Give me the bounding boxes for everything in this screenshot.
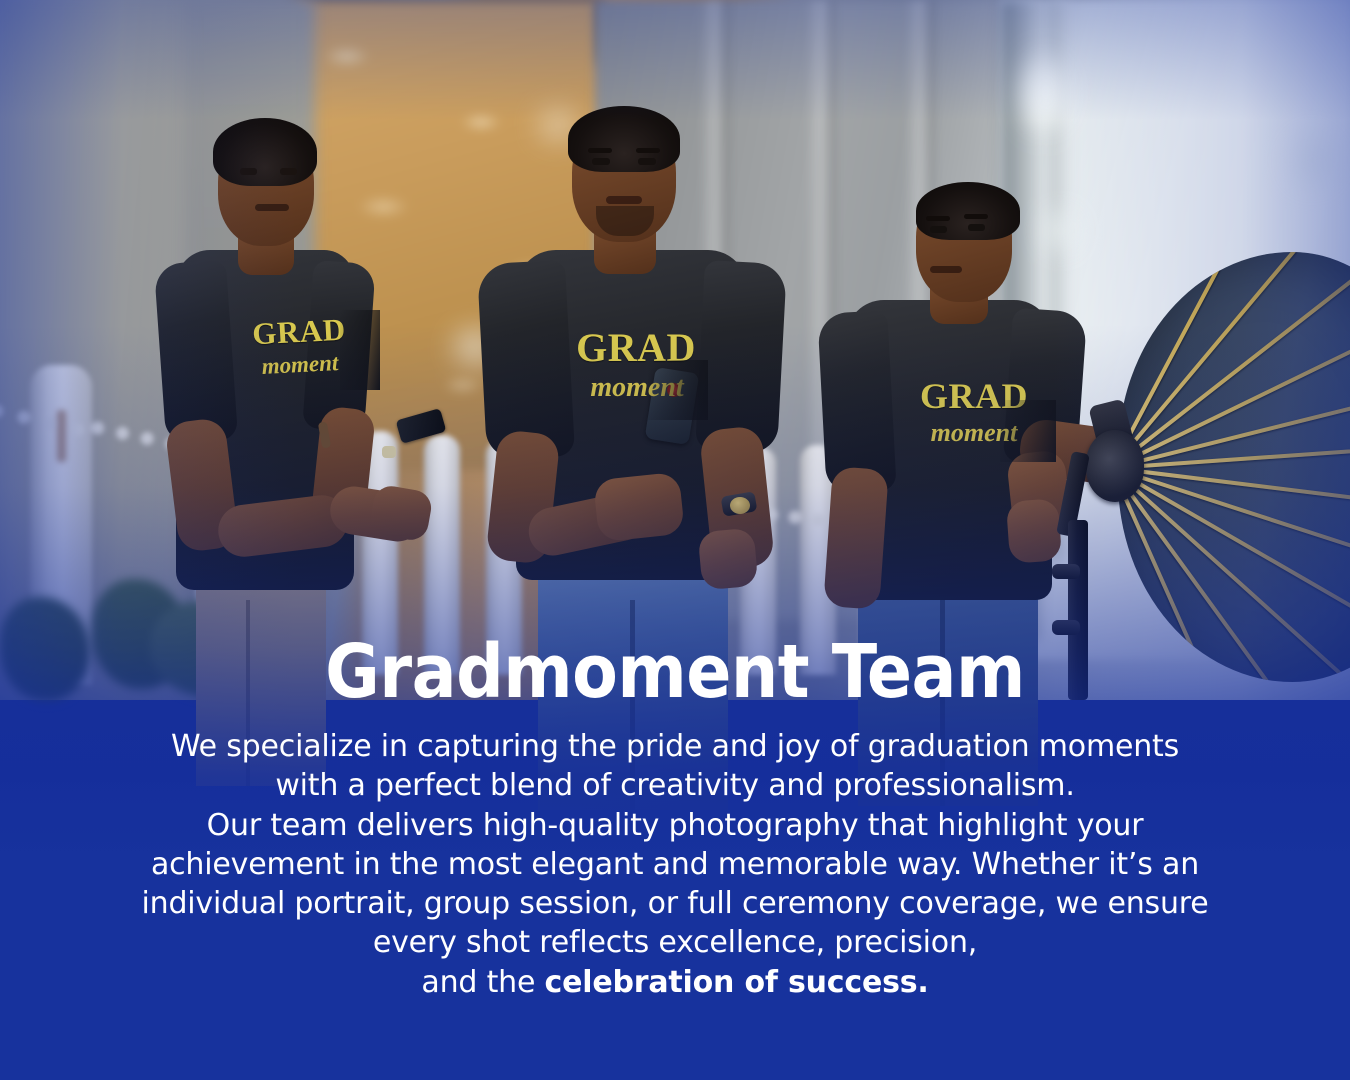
description-line: every shot reflects excellence, precisio… [142, 923, 1209, 962]
banner-content: Gradmoment Team We specialize in capturi… [0, 0, 1350, 1080]
description-line: We specialize in capturing the pride and… [142, 727, 1209, 766]
closing-prefix: and the [421, 965, 544, 1000]
description-line: individual portrait, group session, or f… [142, 884, 1209, 923]
description-line: achievement in the most elegant and memo… [142, 845, 1209, 884]
team-banner: GRAD moment [0, 0, 1350, 1080]
description-line: with a perfect blend of creativity and p… [142, 766, 1209, 805]
description-closing-line: and the celebration of success. [142, 963, 1209, 1002]
closing-bold: celebration of success. [545, 965, 929, 1000]
banner-description: We specialize in capturing the pride and… [142, 727, 1209, 1002]
page-title: Gradmoment Team [325, 635, 1025, 710]
description-line: Our team delivers high-quality photograp… [142, 806, 1209, 845]
